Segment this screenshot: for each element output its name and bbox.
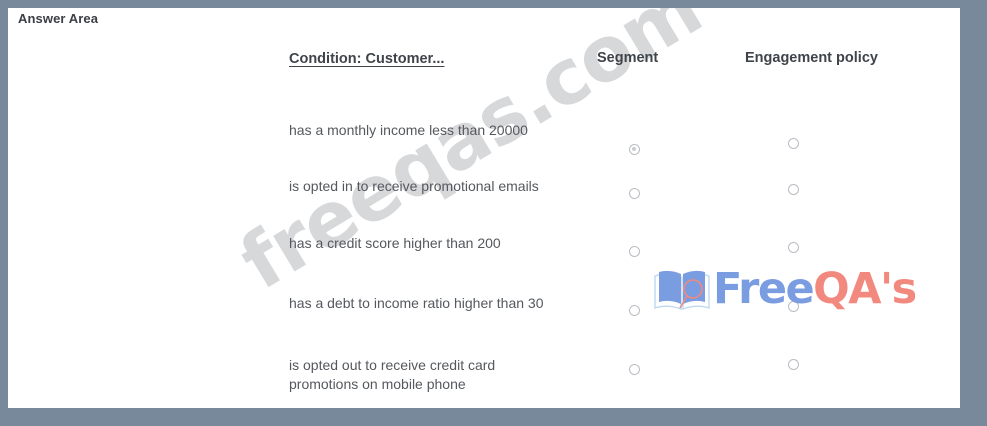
condition-label: has a debt to income ratio higher than 3… [289,294,554,313]
column-header-condition: Condition: Customer... [289,51,444,67]
column-header-engagement-policy: Engagement policy [745,50,878,66]
question-canvas: Answer Area freeqas.com Condition: Custo… [8,8,960,408]
table-row: has a monthly income less than 20000 [8,118,960,178]
column-header-segment: Segment [597,50,658,66]
radio-segment-row-4[interactable] [629,305,640,316]
table-row: is opted out to receive credit card prom… [8,353,960,408]
radio-segment-row-2[interactable] [629,188,640,199]
condition-label: is opted in to receive promotional email… [289,177,554,196]
radio-segment-row-1[interactable] [629,144,640,155]
radio-segment-row-3[interactable] [629,246,640,257]
radio-segment-row-5[interactable] [629,364,640,375]
table-row: is opted in to receive promotional email… [8,173,960,231]
table-row: has a debt to income ratio higher than 3… [8,291,960,351]
condition-label: has a monthly income less than 20000 [289,121,554,140]
screenshot-frame: Answer Area freeqas.com Condition: Custo… [0,0,987,426]
condition-label: is opted out to receive credit card prom… [289,356,554,394]
radio-policy-row-4[interactable] [788,301,799,312]
condition-label: has a credit score higher than 200 [289,234,554,253]
radio-policy-row-3[interactable] [788,242,799,253]
radio-policy-row-2[interactable] [788,184,799,195]
drag-drop-answer-table: Condition: Customer... Segment Engagemen… [8,8,960,408]
table-row: has a credit score higher than 200 [8,231,960,291]
radio-policy-row-5[interactable] [788,359,799,370]
radio-policy-row-1[interactable] [788,138,799,149]
